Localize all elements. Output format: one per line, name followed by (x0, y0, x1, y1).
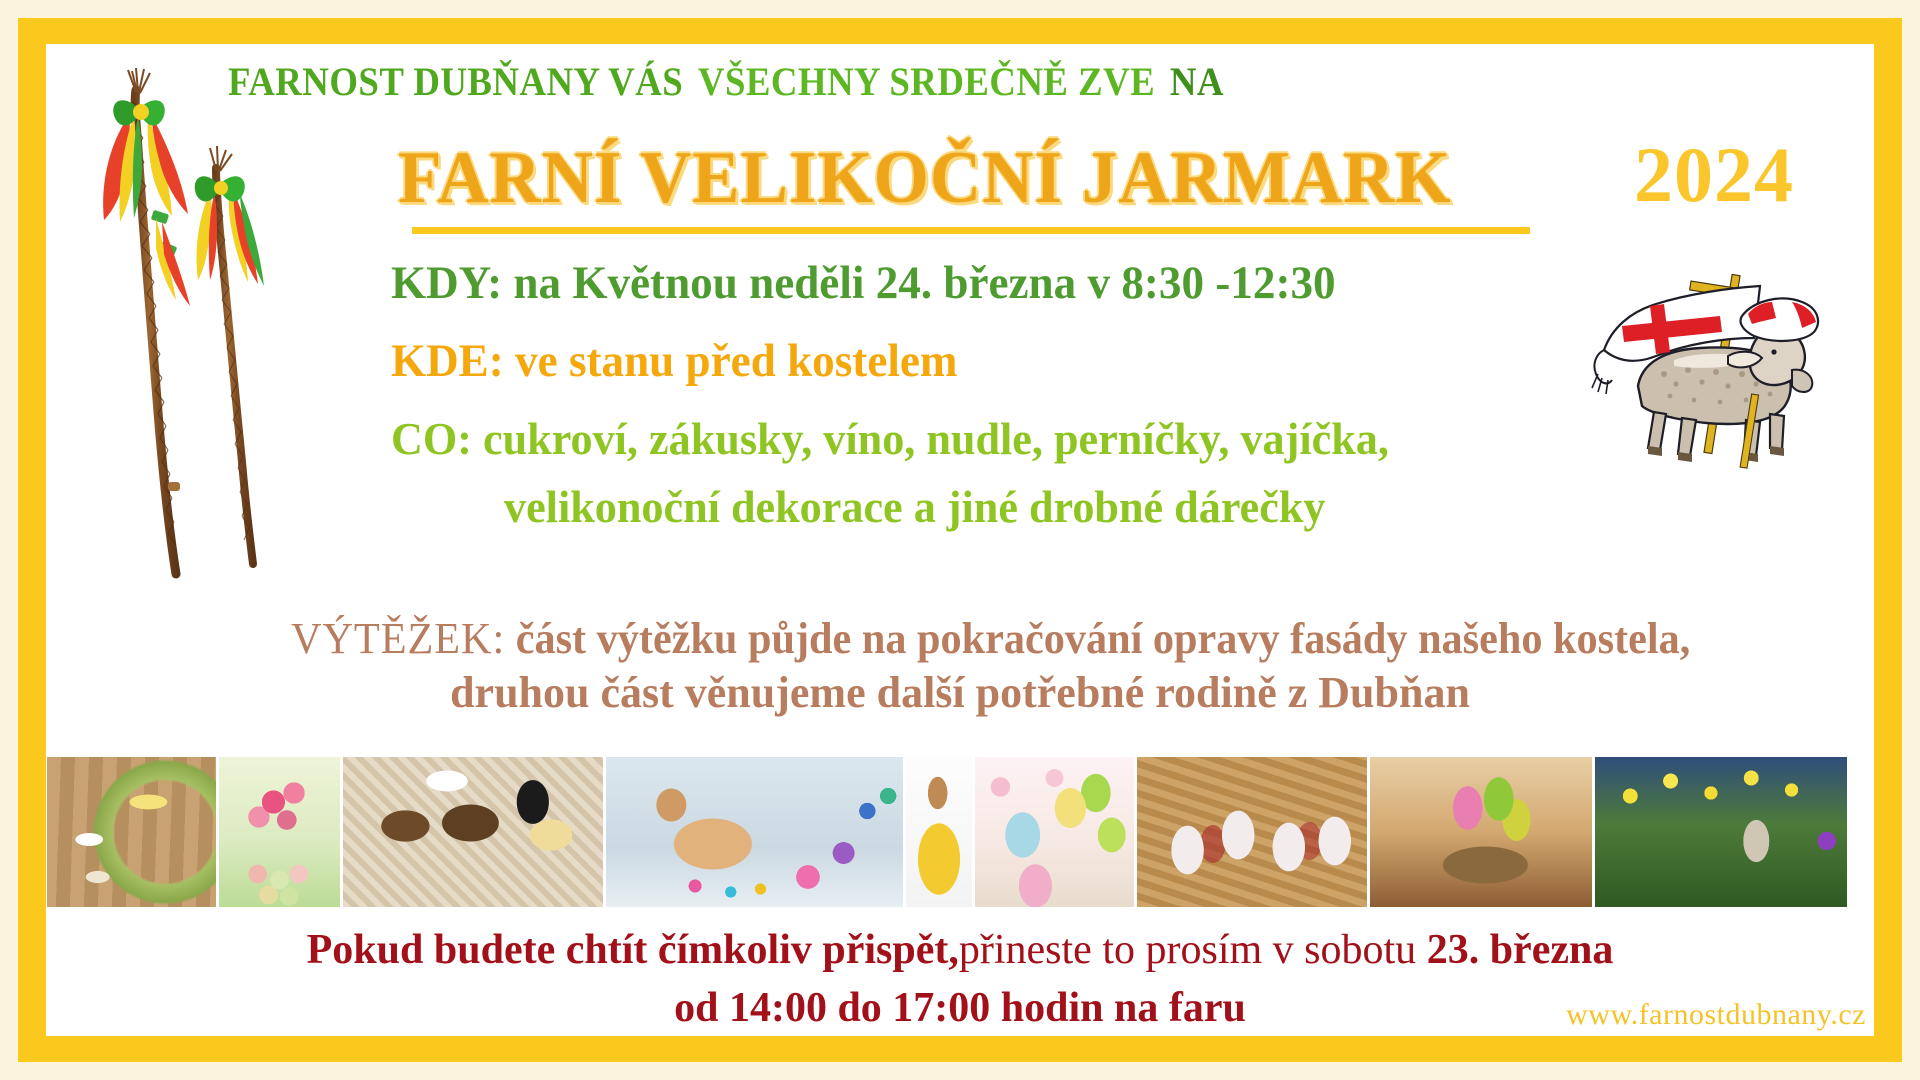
pastel-eggs-nest-photo-image (975, 757, 1134, 907)
poster-canvas: FARNOST DUBŇANY VÁSVŠECHNY SRDEČNĚ ZVENA… (46, 44, 1874, 1036)
detail-line-kde: KDE: ve stanu před kostelem (391, 338, 957, 385)
invitation-part-1: FARNOST DUBŇANY VÁS (228, 59, 683, 104)
detail-line-co-continued: velikonoční dekorace a jiné drobné dáreč… (504, 484, 1325, 530)
main-title-wrapper: FARNÍ VELIKOČNÍ JARMARK (398, 136, 1495, 221)
willow-wreath-photo-image (47, 757, 216, 907)
footer-contribution-prompt: Pokud budete chtít čímkoliv přispět, (307, 927, 959, 973)
easter-basket-cake-photo-image (343, 757, 603, 907)
tulip-bouquet-photo-image (219, 757, 340, 907)
twig-nest-eggs-photo-image (1370, 757, 1592, 907)
poster: FARNOST DUBŇANY VÁSVŠECHNY SRDEČNĚ ZVENA… (0, 0, 1920, 1080)
twig-nest-eggs-photo (1370, 757, 1592, 907)
proceeds-line-2: druhou část věnujeme další potřebné rodi… (46, 671, 1874, 715)
year-label: 2024 (1634, 130, 1794, 220)
pomlazka-easter-whips-illustration (64, 62, 294, 602)
poster-gold-frame: FARNOST DUBŇANY VÁSVŠECHNY SRDEČNĚ ZVENA… (18, 18, 1902, 1062)
lamb-cake-photo-image (606, 757, 904, 907)
easter-photo-strip (47, 757, 1847, 907)
footer-time-range: od 14:00 do 17:00 hodin (674, 985, 1103, 1031)
footer-line-1: Pokud budete chtít čímkoliv přispět,přin… (46, 928, 1874, 973)
daffodils-bunnies-photo (1595, 757, 1847, 907)
tulip-bouquet-photo (219, 757, 340, 907)
invitation-part-2: VŠECHNY SRDEČNĚ ZVE (698, 59, 1155, 104)
invitation-part-3: NA (1170, 59, 1224, 104)
proceeds-label: VÝTĚŽEK: (291, 614, 505, 663)
footer-date: 23. března (1427, 927, 1614, 973)
willow-wreath-photo (47, 757, 216, 907)
agnus-dei-lamb-illustration (1578, 234, 1868, 484)
page-title: FARNÍ VELIKOČNÍ JARMARK (398, 136, 1452, 221)
invitation-header: FARNOST DUBŇANY VÁSVŠECHNY SRDEČNĚ ZVENA (228, 58, 1224, 105)
pastel-eggs-nest-photo (975, 757, 1134, 907)
lace-eggs-photo-image (1137, 757, 1367, 907)
title-underline-rule (412, 227, 1530, 234)
detail-line-kdy: KDY: na Květnou neděli 24. března v 8:30… (391, 260, 1336, 307)
daffodils-bunnies-photo-image (1595, 757, 1847, 907)
footer-place: na faru (1114, 985, 1246, 1031)
lace-eggs-photo (1137, 757, 1367, 907)
footer-bring-text: přineste to prosím v sobotu (959, 927, 1416, 973)
easter-basket-cake-photo (343, 757, 603, 907)
website-url[interactable]: www.farnostdubnany.cz (1566, 998, 1866, 1032)
detail-line-co: CO: cukroví, zákusky, víno, nudle, perní… (391, 416, 1389, 462)
lamb-cake-photo (606, 757, 904, 907)
ceramic-bunny-photo (906, 757, 971, 907)
proceeds-line-1: VÝTĚŽEK: část výtěžku půjde na pokračová… (291, 617, 1690, 661)
ceramic-bunny-photo-image (906, 757, 971, 907)
proceeds-text-1: část výtěžku půjde na pokračování opravy… (516, 614, 1691, 663)
